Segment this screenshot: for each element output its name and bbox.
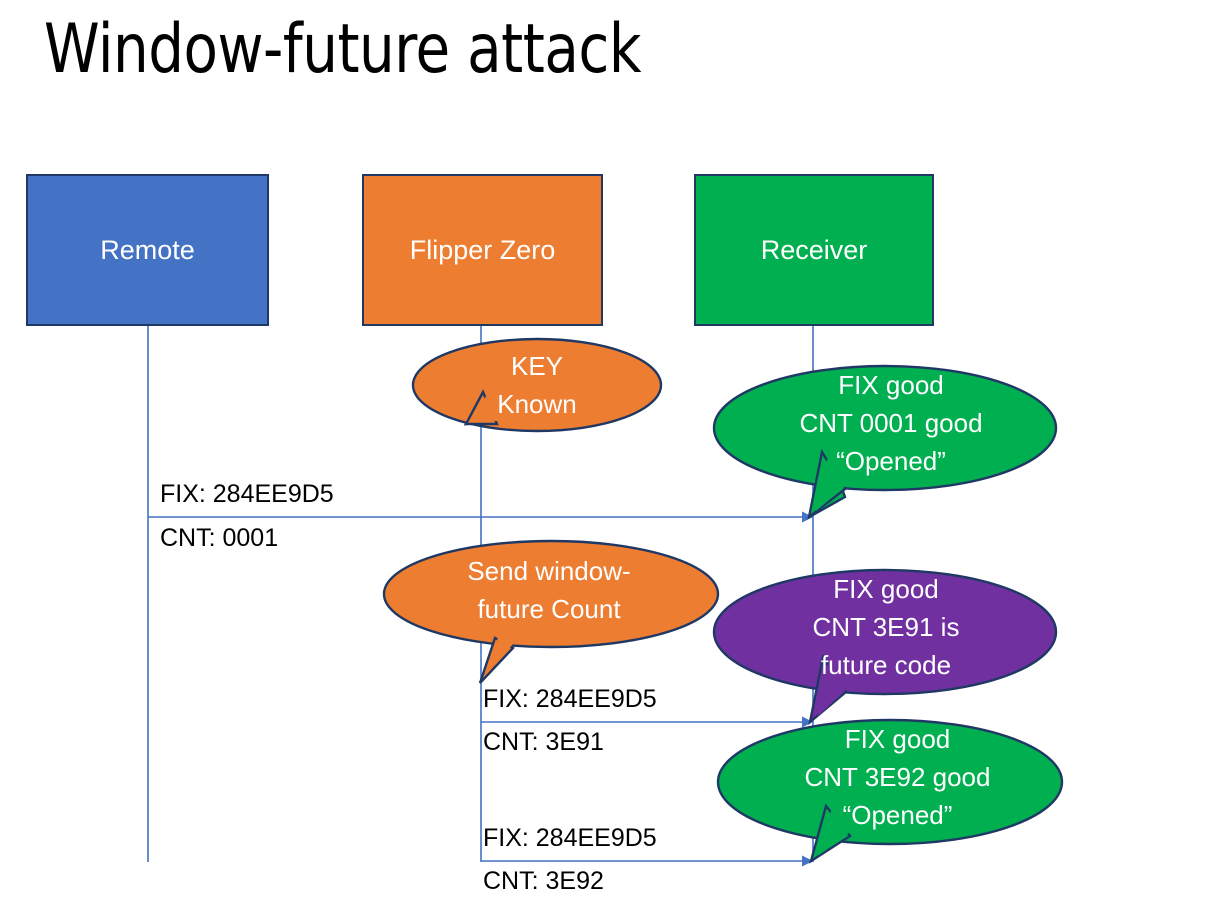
message-1-cnt-label: CNT: 0001: [160, 523, 278, 553]
actor-box-remote[interactable]: Remote: [26, 174, 269, 326]
message-3-fix-label: FIX: 284EE9D5: [483, 823, 657, 853]
message-3-cnt-label: CNT: 3E92: [483, 866, 604, 896]
slide-canvas: Window-future attack: [0, 0, 1216, 898]
sequence-diagram: [0, 0, 1216, 898]
actor-label-receiver: Receiver: [761, 234, 868, 266]
callout-fix-0001-shape: [714, 366, 1056, 517]
message-2-fix-label: FIX: 284EE9D5: [483, 684, 657, 714]
message-1-fix-label: FIX: 284EE9D5: [160, 479, 334, 509]
callout-fix-3e92-shape: [718, 720, 1062, 861]
callout-send-window-future-shape: [384, 541, 718, 683]
actor-box-receiver[interactable]: Receiver: [694, 174, 934, 326]
message-2-cnt-label: CNT: 3E91: [483, 727, 604, 757]
callout-key-known-shape: [413, 339, 661, 431]
actor-box-flipper[interactable]: Flipper Zero: [362, 174, 603, 326]
actor-label-remote: Remote: [100, 234, 195, 266]
actor-label-flipper: Flipper Zero: [410, 234, 556, 266]
callout-fix-3e91-shape: [714, 570, 1056, 722]
